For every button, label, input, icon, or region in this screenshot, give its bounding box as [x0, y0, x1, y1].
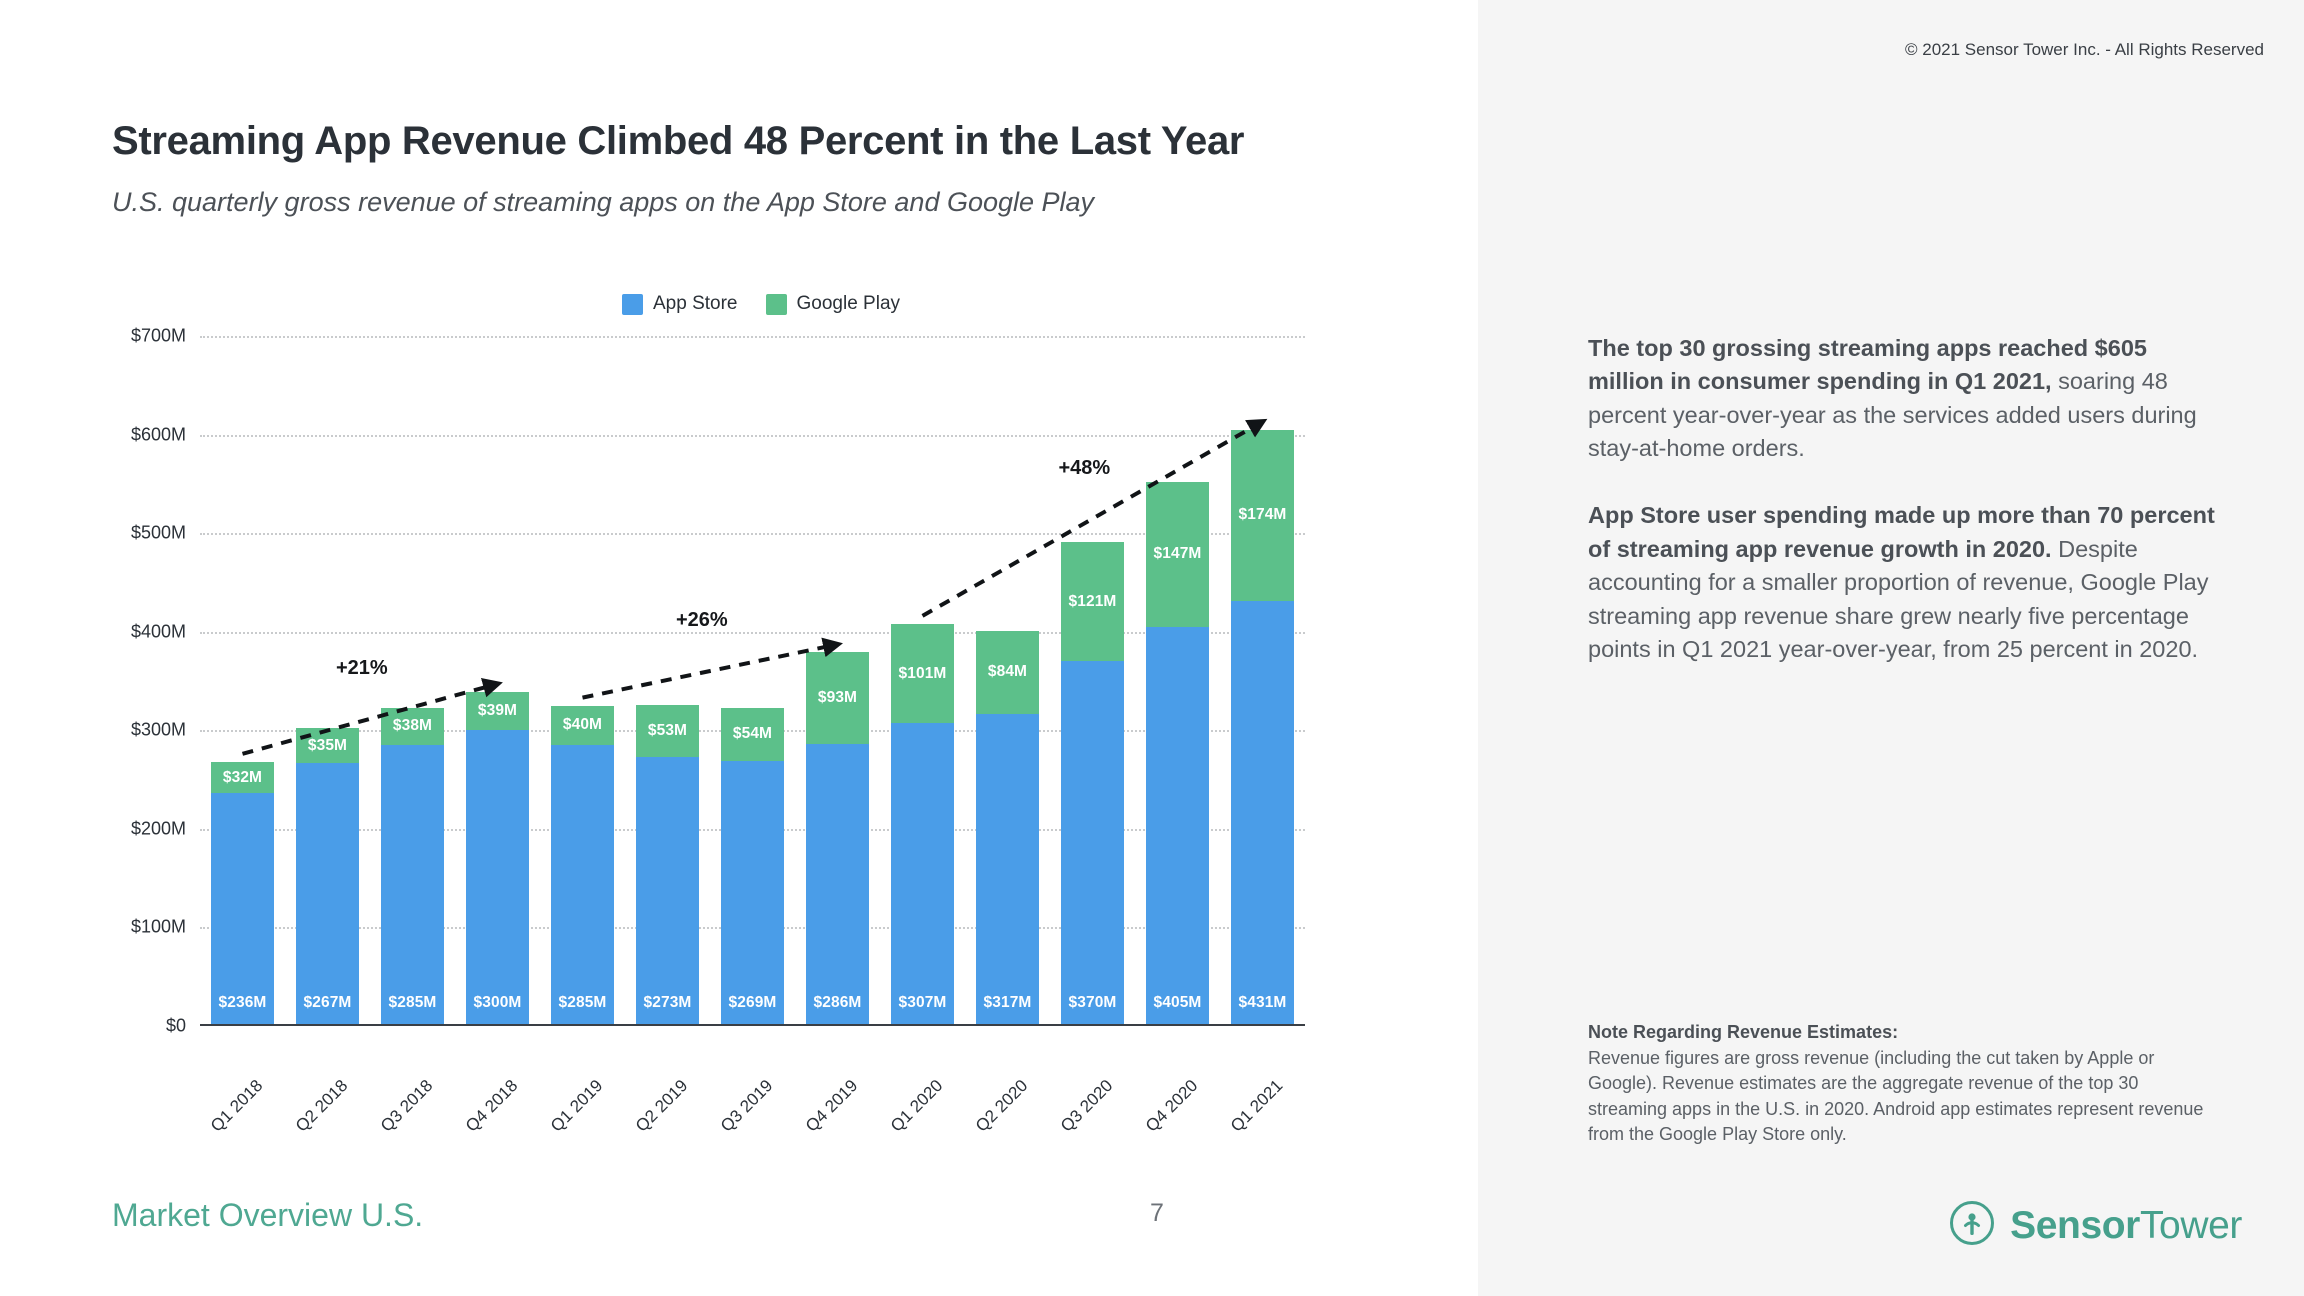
legend-item-google-play[interactable]: Google Play	[766, 293, 901, 315]
bar-segment-app-store[interactable]: $285M	[551, 745, 614, 1026]
legend-swatch-icon	[622, 294, 643, 315]
bar-segment-google-play[interactable]: $39M	[466, 692, 529, 730]
bar-value-label: $174M	[1239, 506, 1287, 524]
chart-legend: App StoreGoogle Play	[622, 290, 900, 318]
copyright-notice: © 2021 Sensor Tower Inc. - All Rights Re…	[1905, 40, 2264, 60]
legend-label: Google Play	[797, 293, 901, 315]
bar-segment-app-store[interactable]: $273M	[636, 757, 699, 1026]
note-body: Revenue figures are gross revenue (inclu…	[1588, 1046, 2218, 1148]
footer-section-label: Market Overview U.S.	[112, 1197, 423, 1234]
y-axis-labels: $0$100M$200M$300M$400M$500M$600M$700M	[112, 336, 196, 1026]
bar-value-label: $405M	[1154, 994, 1202, 1012]
legend-label: App Store	[653, 293, 738, 315]
bar-column[interactable]: $54M$269M	[721, 708, 784, 1026]
bar-segment-google-play[interactable]: $121M	[1061, 542, 1124, 661]
bar-segment-google-play[interactable]: $53M	[636, 705, 699, 757]
bar-value-label: $236M	[219, 994, 267, 1012]
bar-column[interactable]: $40M$285M	[551, 706, 614, 1026]
bar-value-label: $32M	[223, 769, 262, 787]
y-axis-tick-label: $700M	[131, 326, 186, 347]
y-axis-tick-label: $300M	[131, 720, 186, 741]
bar-value-label: $54M	[733, 725, 772, 743]
bar-column[interactable]: $93M$286M	[806, 652, 869, 1026]
bar-segment-google-play[interactable]: $32M	[211, 762, 274, 794]
bar-value-label: $431M	[1239, 994, 1287, 1012]
legend-swatch-icon	[766, 294, 787, 315]
bar-value-label: $84M	[988, 663, 1027, 681]
page-subtitle: U.S. quarterly gross revenue of streamin…	[112, 186, 1432, 220]
bar-value-label: $307M	[899, 994, 947, 1012]
bar-value-label: $38M	[393, 717, 432, 735]
bar-segment-app-store[interactable]: $269M	[721, 761, 784, 1026]
bar-column[interactable]: $35M$267M	[296, 728, 359, 1026]
bar-value-label: $273M	[644, 994, 692, 1012]
page-number: 7	[1150, 1199, 1164, 1228]
brand-name-bold: Sensor	[2010, 1204, 2140, 1247]
y-axis-tick-label: $0	[166, 1016, 186, 1037]
bar-segment-google-play[interactable]: $84M	[976, 631, 1039, 714]
bar-segment-google-play[interactable]: $38M	[381, 708, 444, 745]
bar-series-container: $32M$236M$35M$267M$38M$285M$39M$300M$40M…	[200, 336, 1305, 1026]
chart-panel: Streaming App Revenue Climbed 48 Percent…	[0, 0, 1478, 1296]
bar-segment-app-store[interactable]: $431M	[1231, 601, 1294, 1026]
x-axis-line	[200, 1024, 1305, 1026]
bar-column[interactable]: $147M$405M	[1146, 482, 1209, 1026]
callout-paragraph: The top 30 grossing streaming apps reach…	[1588, 332, 2228, 465]
bar-value-label: $121M	[1069, 593, 1117, 611]
y-axis-tick-label: $600M	[131, 424, 186, 445]
bar-column[interactable]: $121M$370M	[1061, 542, 1124, 1026]
bar-segment-app-store[interactable]: $317M	[976, 714, 1039, 1026]
bar-segment-google-play[interactable]: $54M	[721, 708, 784, 761]
bar-value-label: $286M	[814, 994, 862, 1012]
bar-value-label: $267M	[304, 994, 352, 1012]
bar-value-label: $101M	[899, 665, 947, 683]
note-block: Note Regarding Revenue Estimates: Revenu…	[1588, 1022, 2218, 1148]
bar-segment-google-play[interactable]: $93M	[806, 652, 869, 744]
bar-segment-app-store[interactable]: $285M	[381, 745, 444, 1026]
bar-column[interactable]: $39M$300M	[466, 692, 529, 1026]
bar-value-label: $53M	[648, 722, 687, 740]
bar-segment-google-play[interactable]: $101M	[891, 624, 954, 724]
bar-value-label: $285M	[559, 994, 607, 1012]
bar-column[interactable]: $38M$285M	[381, 708, 444, 1026]
callout-list: The top 30 grossing streaming apps reach…	[1588, 332, 2228, 700]
bar-value-label: $40M	[563, 716, 602, 734]
bar-value-label: $300M	[474, 994, 522, 1012]
bar-value-label: $39M	[478, 702, 517, 720]
bar-value-label: $35M	[308, 737, 347, 755]
bar-column[interactable]: $84M$317M	[976, 631, 1039, 1026]
bar-value-label: $147M	[1154, 545, 1202, 563]
bar-segment-app-store[interactable]: $405M	[1146, 627, 1209, 1026]
commentary-panel: © 2021 Sensor Tower Inc. - All Rights Re…	[1478, 0, 2304, 1296]
brand-name-regular: Tower	[2140, 1204, 2242, 1247]
bar-value-label: $93M	[818, 689, 857, 707]
bar-segment-app-store[interactable]: $267M	[296, 763, 359, 1026]
bar-column[interactable]: $53M$273M	[636, 705, 699, 1026]
bar-column[interactable]: $101M$307M	[891, 624, 954, 1026]
bar-segment-app-store[interactable]: $300M	[466, 730, 529, 1026]
y-axis-tick-label: $500M	[131, 523, 186, 544]
bar-segment-app-store[interactable]: $236M	[211, 793, 274, 1026]
bar-column[interactable]: $174M$431M	[1231, 430, 1294, 1026]
bar-segment-google-play[interactable]: $35M	[296, 728, 359, 763]
revenue-bar-chart: App StoreGoogle Play $0$100M$200M$300M$4…	[112, 290, 1372, 1070]
bar-segment-google-play[interactable]: $174M	[1231, 430, 1294, 602]
bar-segment-app-store[interactable]: $370M	[1061, 661, 1124, 1026]
bar-segment-app-store[interactable]: $307M	[891, 723, 954, 1026]
bar-value-label: $285M	[389, 994, 437, 1012]
bar-value-label: $269M	[729, 994, 777, 1012]
slide-root: Streaming App Revenue Climbed 48 Percent…	[0, 0, 2304, 1296]
y-axis-tick-label: $200M	[131, 818, 186, 839]
bar-segment-app-store[interactable]: $286M	[806, 744, 869, 1026]
legend-item-app-store[interactable]: App Store	[622, 293, 738, 315]
note-title: Note Regarding Revenue Estimates:	[1588, 1022, 2218, 1043]
bar-column[interactable]: $32M$236M	[211, 762, 274, 1026]
bar-segment-google-play[interactable]: $40M	[551, 706, 614, 745]
sensor-tower-logo-icon	[1948, 1199, 1996, 1252]
y-axis-tick-label: $100M	[131, 917, 186, 938]
bar-segment-google-play[interactable]: $147M	[1146, 482, 1209, 627]
page-title: Streaming App Revenue Climbed 48 Percent…	[112, 118, 1432, 164]
x-axis-labels: Q1 2018Q2 2018Q3 2018Q4 2018Q1 2019Q2 20…	[200, 1072, 1305, 1192]
bar-value-label: $370M	[1069, 994, 1117, 1012]
brand-wordmark: SensorTower	[2010, 1204, 2242, 1248]
y-axis-tick-label: $400M	[131, 621, 186, 642]
bar-value-label: $317M	[984, 994, 1032, 1012]
callout-paragraph: App Store user spending made up more tha…	[1588, 499, 2228, 666]
plot-area: $32M$236M$35M$267M$38M$285M$39M$300M$40M…	[200, 336, 1305, 1026]
brand-logo: SensorTower	[1948, 1199, 2242, 1252]
